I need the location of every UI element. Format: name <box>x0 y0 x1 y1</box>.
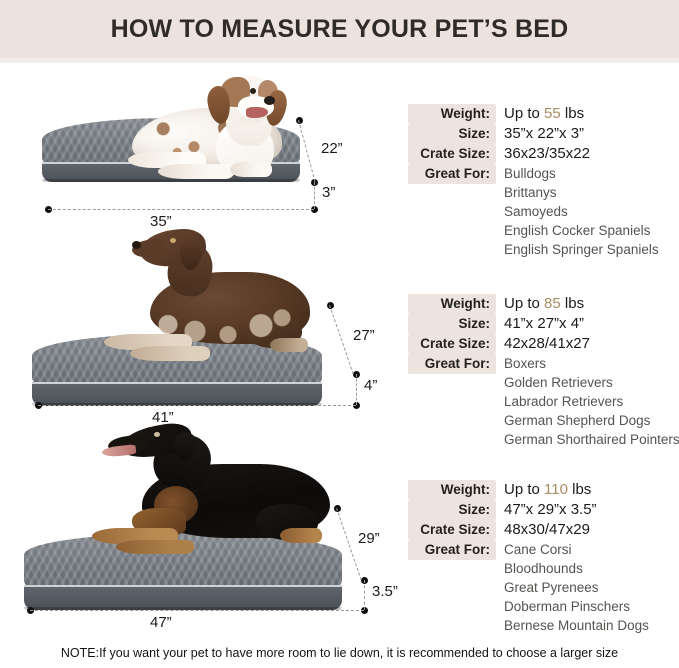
spec-table-medium: Weight: Up to 85 lbs Size: 41”x 27”x 4” … <box>408 294 679 449</box>
dog-front-paw-right <box>130 346 210 361</box>
breed-item: Cane Corsi <box>504 540 649 559</box>
spec-label-size: Size: <box>408 500 496 520</box>
weight-suffix: lbs <box>565 295 584 312</box>
dim-label-depth: 22” <box>321 140 343 157</box>
dog-brittany-spaniel <box>98 74 298 184</box>
weight-prefix: Up to <box>504 105 540 122</box>
spec-value-size: 35”x 22”x 3” <box>504 124 584 143</box>
header-underline <box>0 58 679 63</box>
breed-item: Bulldogs <box>504 164 659 183</box>
dim-line-height <box>364 580 365 610</box>
dog-nose <box>264 96 275 105</box>
dim-line-depth <box>329 305 354 374</box>
page-header: HOW TO MEASURE YOUR PET’S BED <box>0 0 679 58</box>
bed-side-edge <box>24 585 342 610</box>
spec-row-great-for: Great For: Cane Corsi Bloodhounds Great … <box>408 540 649 635</box>
breed-item: Brittanys <box>504 183 659 202</box>
breed-item: Bloodhounds <box>504 559 649 578</box>
spec-label-weight: Weight: <box>408 104 496 124</box>
spec-value-size: 41”x 27”x 4” <box>504 314 584 333</box>
spec-row-size: Size: 47”x 29”x 3.5” <box>408 500 649 520</box>
dim-label-height: 4” <box>364 377 377 394</box>
dim-label-width: 35” <box>150 213 172 230</box>
breed-item: Great Pyrenees <box>504 578 649 597</box>
dim-label-depth: 27” <box>353 327 375 344</box>
page-title: HOW TO MEASURE YOUR PET’S BED <box>111 15 569 44</box>
bed-side-edge <box>32 382 322 406</box>
dim-label-depth: 29” <box>358 530 380 547</box>
spec-label-crate-size: Crate Size: <box>408 520 496 540</box>
spec-label-great-for: Great For: <box>408 540 496 560</box>
spec-value-weight: Up to 55 lbs <box>504 104 584 123</box>
breed-item: Labrador Retrievers <box>504 392 679 411</box>
spec-row-size: Size: 35”x 22”x 3” <box>408 124 659 144</box>
spec-value-crate-size: 48x30/47x29 <box>504 520 590 539</box>
spec-label-size: Size: <box>408 314 496 334</box>
weight-suffix: lbs <box>565 105 584 122</box>
dog-doberman-pinscher <box>58 424 338 569</box>
dim-line-width <box>30 610 364 611</box>
spec-value-crate-size: 42x28/41x27 <box>504 334 590 353</box>
spec-label-weight: Weight: <box>408 294 496 314</box>
spec-label-weight: Weight: <box>408 480 496 500</box>
spec-value-weight: Up to 110 lbs <box>504 480 591 499</box>
spec-label-crate-size: Crate Size: <box>408 144 496 164</box>
dog-eye <box>170 238 176 243</box>
dog-front-paw-right <box>158 164 234 179</box>
weight-suffix: lbs <box>572 481 591 498</box>
spec-row-weight: Weight: Up to 110 lbs <box>408 480 649 500</box>
dog-hind-paw <box>270 338 308 352</box>
dog-nose <box>132 241 141 249</box>
weight-number: 55 <box>544 105 561 122</box>
dim-label-width: 47” <box>150 614 172 631</box>
breed-item: Golden Retrievers <box>504 373 679 392</box>
spec-value-crate-size: 36x23/35x22 <box>504 144 590 163</box>
dim-line-height <box>356 374 357 405</box>
weight-prefix: Up to <box>504 481 540 498</box>
breed-item: Boxers <box>504 354 679 373</box>
dog-front-paw-right <box>116 540 194 554</box>
dog-eye <box>154 432 160 437</box>
spec-row-size: Size: 41”x 27”x 4” <box>408 314 679 334</box>
dim-label-height: 3” <box>322 184 335 201</box>
size-section-medium: 41” 4” 27” Weight: Up to 85 lbs Size: 41… <box>0 232 679 424</box>
spec-row-weight: Weight: Up to 55 lbs <box>408 104 659 124</box>
weight-number: 85 <box>544 295 561 312</box>
spec-row-crate-size: Crate Size: 42x28/41x27 <box>408 334 679 354</box>
dim-line-width <box>38 405 356 406</box>
dog-eye <box>250 88 256 94</box>
dim-line-width <box>48 209 314 210</box>
spec-value-size: 47”x 29”x 3.5” <box>504 500 597 519</box>
dog-hind-paw <box>230 162 272 177</box>
spec-row-weight: Weight: Up to 85 lbs <box>408 294 679 314</box>
dog-german-shorthaired-pointer <box>58 230 328 370</box>
size-section-small: 35” 3” 22” Weight: Up to 55 lbs Size: 35… <box>0 72 679 230</box>
breed-item: Bernese Mountain Dogs <box>504 616 649 635</box>
weight-prefix: Up to <box>504 295 540 312</box>
spec-row-crate-size: Crate Size: 48x30/47x29 <box>408 520 649 540</box>
dog-hind-paw <box>280 528 322 543</box>
spec-label-great-for: Great For: <box>408 164 496 184</box>
spec-table-large: Weight: Up to 110 lbs Size: 47”x 29”x 3.… <box>408 480 649 635</box>
spec-row-crate-size: Crate Size: 36x23/35x22 <box>408 144 659 164</box>
spec-label-great-for: Great For: <box>408 354 496 374</box>
spec-label-crate-size: Crate Size: <box>408 334 496 354</box>
breed-item: Doberman Pinschers <box>504 597 649 616</box>
footer-note: NOTE:If you want your pet to have more r… <box>0 646 679 660</box>
size-section-large: 47” 3.5” 29” Weight: Up to 110 lbs Size:… <box>0 428 679 640</box>
dim-line-height <box>314 182 315 209</box>
breed-item: Samoyeds <box>504 202 659 221</box>
weight-number: 110 <box>544 481 568 498</box>
spec-label-size: Size: <box>408 124 496 144</box>
spec-value-weight: Up to 85 lbs <box>504 294 584 313</box>
dim-line-depth <box>298 120 316 182</box>
dim-label-height: 3.5” <box>372 583 398 600</box>
breed-list: Cane Corsi Bloodhounds Great Pyrenees Do… <box>504 540 649 635</box>
